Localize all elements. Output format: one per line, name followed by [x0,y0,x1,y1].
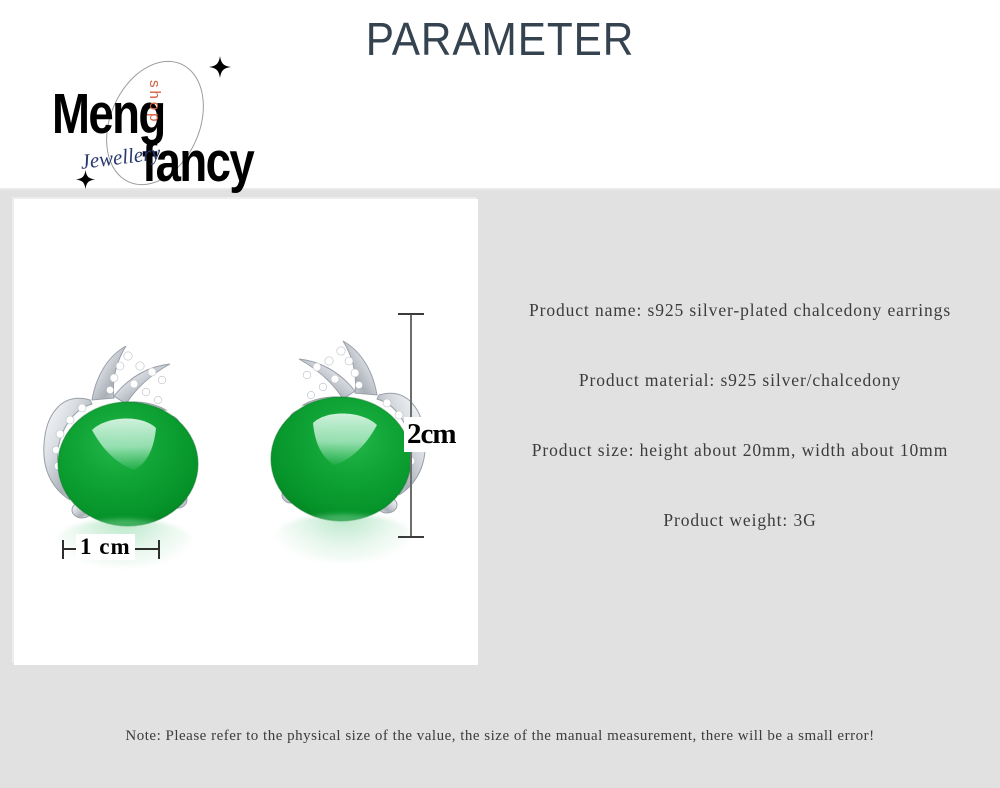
spec-product-material: Product material: s925 silver/chalcedony [490,370,990,391]
brand-logo: Meng fancy shop Jewellery [52,62,292,192]
sparkle-icon-top-right [209,56,231,78]
spec-product-size: Product size: height about 20mm, width a… [490,440,990,461]
product-photo: 2cm 1 cm [14,199,478,665]
measurement-note: Note: Please refer to the physical size … [0,728,1000,745]
product-spec-list: Product name: s925 silver-plated chalced… [490,300,990,580]
spec-product-weight: Product weight: 3G [490,510,990,531]
dimension-label-vertical: 2cm [404,417,459,452]
page-title: PARAMETER [40,12,960,66]
spec-product-name: Product name: s925 silver-plated chalced… [490,300,990,321]
dimension-label-horizontal: 1 cm [76,534,135,560]
logo-shop-label: shop [146,80,163,125]
earring-left [30,304,220,554]
earring-right-reflection [274,514,414,562]
